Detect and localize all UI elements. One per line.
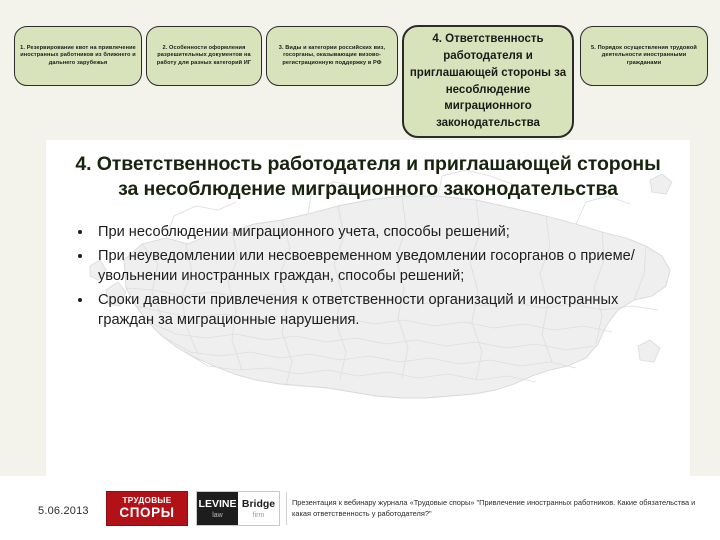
list-item: При неуведомлении или несвоевременном ув… <box>70 247 676 286</box>
presentation-slide: 1. Резервирование квот на привлечение ин… <box>0 0 720 540</box>
page-title: 4. Ответственность работодателя и пригла… <box>46 140 690 203</box>
list-item-text: Сроки давности привлечения к ответственн… <box>98 292 618 328</box>
logo-levine-half: LEVINE law <box>197 492 238 525</box>
list-item: При несоблюдении миграционного учета, сп… <box>70 223 676 243</box>
logo-levine-main: LEVINE <box>197 499 238 510</box>
bullet-dot-icon <box>78 254 82 258</box>
logo-levine-bridge[interactable]: LEVINE law Bridge firm <box>196 491 280 526</box>
logo-bridge-sub: firm <box>238 512 279 519</box>
agenda-item-1[interactable]: 1. Резервирование квот на привлечение ин… <box>14 26 142 86</box>
list-item-text: При несоблюдении миграционного учета, сп… <box>98 224 510 240</box>
agenda-item-4-active[interactable]: 4. Ответственность работодателя и пригла… <box>402 25 574 138</box>
list-item-text: При неуведомлении или несвоевременном ув… <box>98 248 635 284</box>
bullet-dot-icon <box>78 230 82 234</box>
logo-bridge-main: Bridge <box>238 499 279 510</box>
list-item: Сроки давности привлечения к ответственн… <box>70 291 676 330</box>
logo-trudovye-spory-line2: СПОРЫ <box>119 506 174 520</box>
agenda-item-5[interactable]: 5. Порядок осуществления трудовой деятел… <box>580 26 708 86</box>
logo-bridge-half: Bridge firm <box>238 492 279 525</box>
agenda-item-2[interactable]: 2. Особенности оформления разрешительных… <box>146 26 262 86</box>
bullet-dot-icon <box>78 298 82 302</box>
agenda-bar: 1. Резервирование квот на привлечение ин… <box>0 0 720 140</box>
bullet-list: При несоблюдении миграционного учета, сп… <box>46 223 690 331</box>
logo-levine-sub: law <box>197 512 238 519</box>
logo-trudovye-spory[interactable]: ТРУДОВЫЕ СПОРЫ <box>106 491 188 526</box>
footer-note: Презентация к вебинару журнала «Трудовые… <box>292 497 712 519</box>
logo-trudovye-spory-line1: ТРУДОВЫЕ <box>122 497 171 505</box>
slide-content: 4. Ответственность работодателя и пригла… <box>46 140 690 476</box>
slide-body: 4. Ответственность работодателя и пригла… <box>46 140 690 476</box>
footer-date: 5.06.2013 <box>38 505 89 517</box>
footer-divider <box>286 492 287 525</box>
agenda-item-3[interactable]: 3. Виды и категории российских виз, госо… <box>266 26 398 86</box>
